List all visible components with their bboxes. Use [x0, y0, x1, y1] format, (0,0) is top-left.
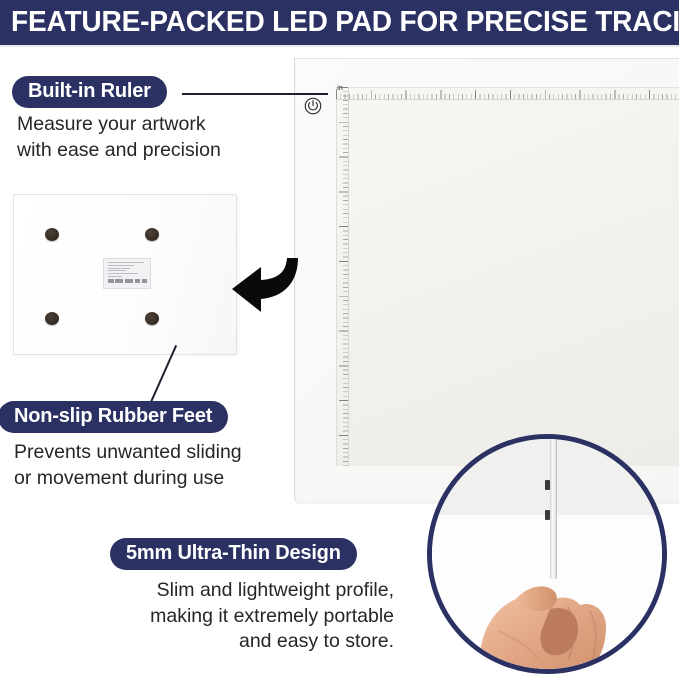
curved-arrow-left-icon: [228, 248, 300, 320]
callout-description-built-in-ruler: Measure your artwork with ease and preci…: [17, 112, 221, 163]
cert-mark: [115, 279, 123, 283]
spec-text-line: [108, 262, 144, 263]
inset-background-upper: [432, 439, 662, 515]
spec-text-line: [108, 270, 126, 271]
certification-marks: [108, 279, 147, 283]
rubber-foot: [145, 312, 159, 325]
callout-description-non-slip-rubber-feet: Prevents unwanted sliding or movement du…: [14, 440, 242, 491]
callout-description-ultra-thin-design: Slim and lightweight profile, making it …: [88, 578, 394, 655]
leader-line-ruler: [182, 93, 328, 95]
callout-label-non-slip-rubber-feet: Non-slip Rubber Feet: [0, 401, 228, 433]
cert-mark: [108, 279, 114, 283]
rubber-foot: [45, 312, 59, 325]
led-pad-front-view: in: [294, 58, 679, 504]
thickness-demo-inset: [427, 434, 667, 674]
spec-text-line: [108, 273, 138, 274]
hand-pinching-pad: [472, 547, 632, 674]
spec-text-line: [108, 276, 122, 277]
banner-divider: [0, 45, 679, 47]
product-spec-label: [103, 258, 151, 289]
spec-text-line: [108, 265, 134, 266]
pad-edge-port: [545, 510, 550, 520]
callout-label-ultra-thin-design: 5mm Ultra-Thin Design: [110, 538, 357, 570]
cert-mark: [135, 279, 141, 283]
callout-label-built-in-ruler: Built-in Ruler: [12, 76, 167, 108]
ruler-unit-label: in: [337, 85, 343, 92]
led-pad-tracing-surface: [336, 87, 679, 466]
header-banner: FEATURE-PACKED LED PAD FOR PRECISE TRACI…: [0, 0, 679, 45]
page-title: FEATURE-PACKED LED PAD FOR PRECISE TRACI…: [11, 8, 679, 37]
spec-text-line: [108, 268, 130, 269]
rubber-foot: [145, 228, 159, 241]
ruler-top-major-ticks: [336, 87, 679, 99]
ruler-left-major-ticks: [336, 87, 348, 466]
power-icon[interactable]: [303, 96, 323, 116]
cert-mark: [125, 279, 133, 283]
pad-edge-port: [545, 480, 550, 490]
rubber-foot: [45, 228, 59, 241]
cert-mark: [142, 279, 148, 283]
